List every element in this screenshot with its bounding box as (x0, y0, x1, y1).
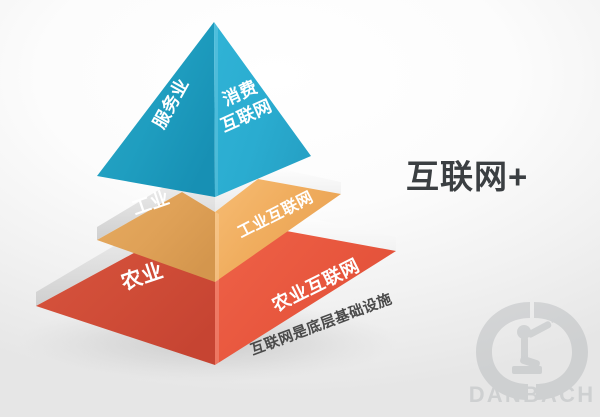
industry-front-edge (215, 212, 219, 282)
headline-internet-plus: 互联网+ (406, 160, 528, 193)
agriculture-front-edge (215, 276, 219, 365)
pyramid-diagram: 农业 农业互联网 工业 工业互联网 (0, 0, 600, 417)
illustration-canvas: 农业 农业互联网 工业 工业互联网 (0, 0, 600, 417)
